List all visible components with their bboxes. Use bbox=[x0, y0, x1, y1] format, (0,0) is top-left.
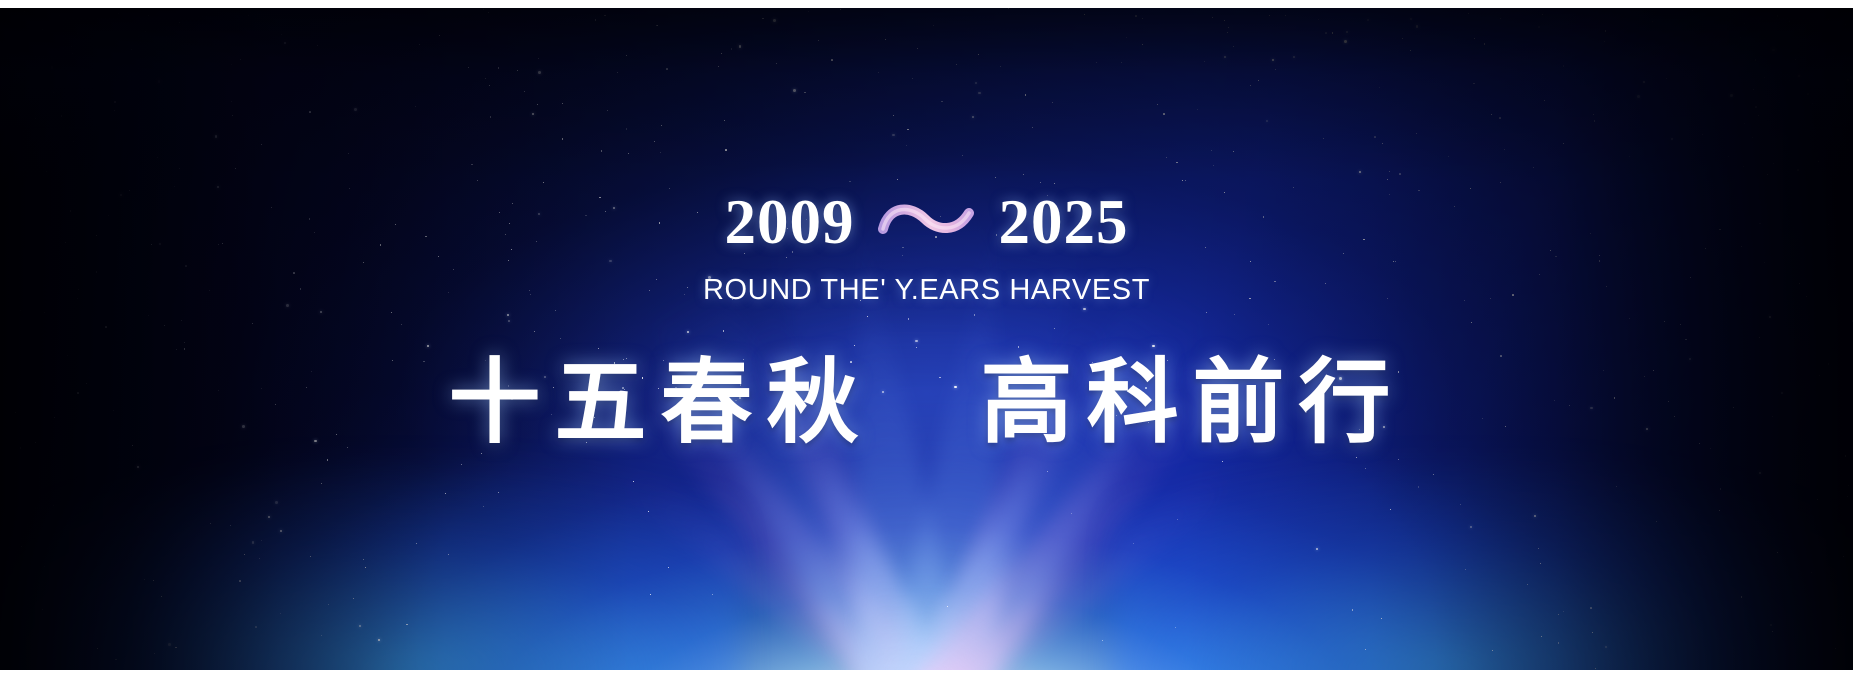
headline-row: 十五春秋 高科前行 bbox=[448, 355, 1404, 452]
headline-phrase-one: 十五春秋 bbox=[448, 355, 872, 452]
headline-phrase-two: 高科前行 bbox=[981, 355, 1405, 452]
banner-content: 2009 bbox=[0, 8, 1853, 670]
subtitle-text: ROUND THE' Y.EARS HARVEST bbox=[703, 274, 1150, 307]
banner-artwork: 2009 bbox=[0, 8, 1853, 670]
anniversary-banner: 2009 bbox=[0, 0, 1859, 680]
end-year: 2025 bbox=[999, 191, 1129, 254]
year-range: 2009 bbox=[725, 184, 1129, 260]
start-year: 2009 bbox=[725, 191, 855, 254]
wave-tilde-icon bbox=[879, 193, 975, 251]
